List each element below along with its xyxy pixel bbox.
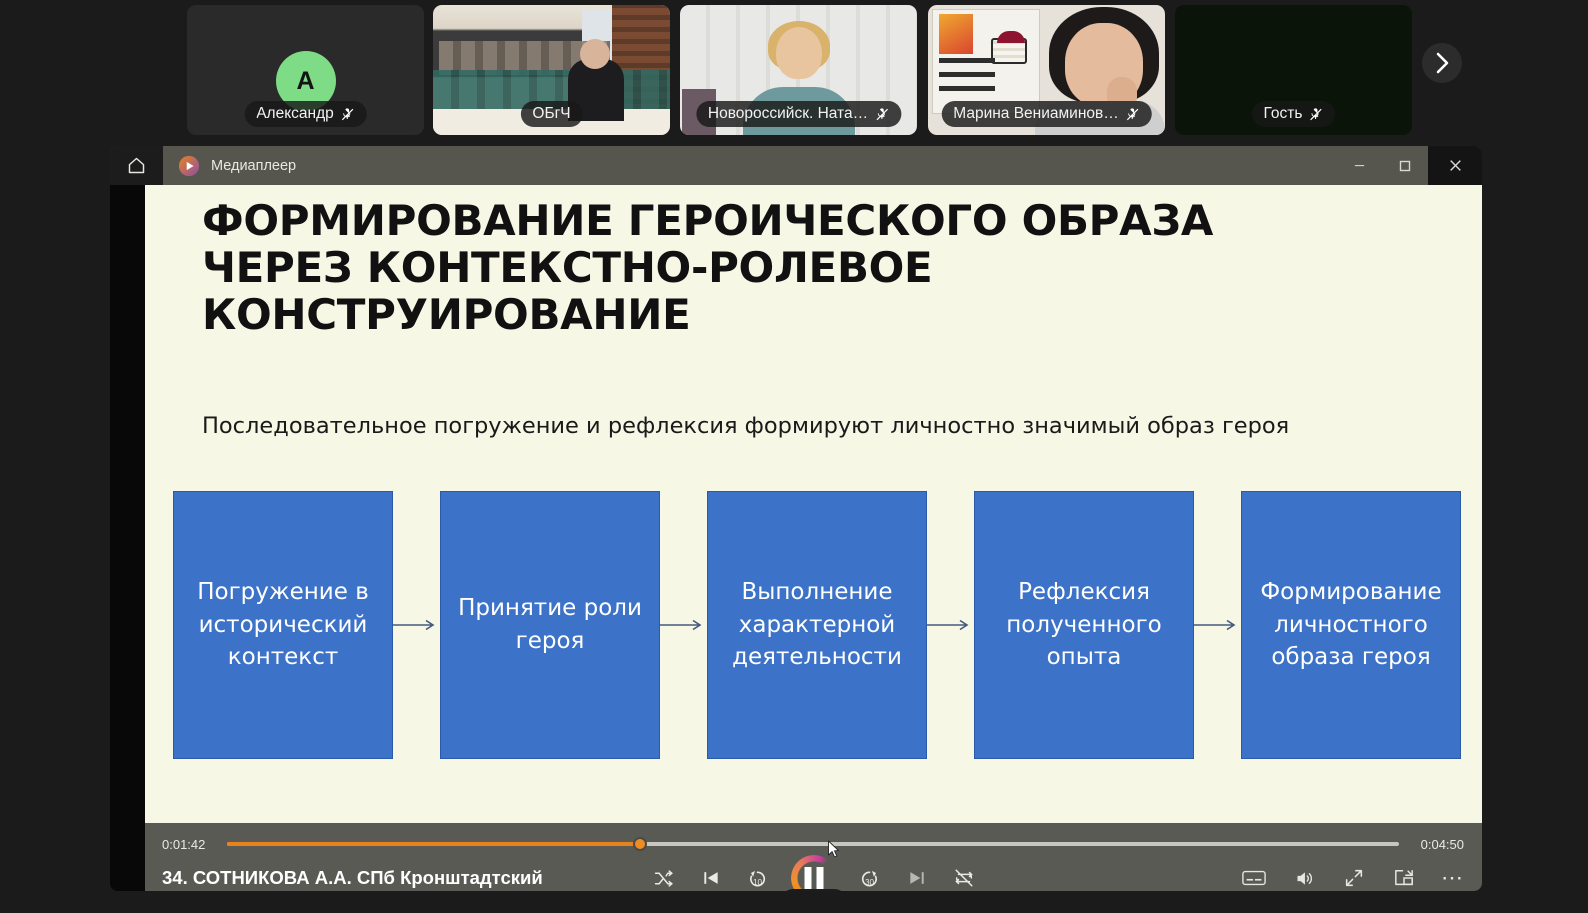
more-options-button[interactable]: ⋯ <box>1441 873 1464 883</box>
rewind-10-button[interactable]: 10 <box>744 864 772 891</box>
track-title: 34. СОТНИКОВА А.А. СПб Кронштадтский <box>162 867 543 889</box>
process-step: Принятие роли героя <box>440 491 660 759</box>
transport-controls: 10 ОБгЧ 30 <box>650 855 978 891</box>
participant-name-pill: Марина Вениаминов… <box>941 101 1152 127</box>
window-titlebar: Медиаплеер <box>110 146 1482 185</box>
pause-icon <box>804 867 823 889</box>
process-step: Погружение в исторический контекст <box>173 491 393 759</box>
seek-handle[interactable] <box>633 837 647 851</box>
shuffle-button[interactable] <box>650 864 678 891</box>
maximize-icon <box>1398 159 1412 173</box>
flow-arrow-icon <box>393 615 440 635</box>
participant-name: Гость <box>1264 105 1303 123</box>
minimize-button[interactable] <box>1336 146 1382 185</box>
repeat-off-button[interactable] <box>950 864 978 891</box>
participant-tile[interactable]: Марина Вениаминов… <box>928 5 1165 135</box>
forward-30-icon: 30 <box>858 867 881 890</box>
participant-tile[interactable]: Гость <box>1175 5 1412 135</box>
current-time: 0:01:42 <box>162 837 205 852</box>
next-track-button[interactable] <box>903 864 931 891</box>
shuffle-icon <box>653 868 674 889</box>
rewind-10-icon: 10 <box>746 867 769 890</box>
media-player-icon <box>178 155 200 177</box>
seek-bar[interactable] <box>227 842 1398 846</box>
process-flow-diagram: Погружение в исторический контекст Приня… <box>173 485 1473 765</box>
media-player-window: Медиаплеер ФОРМИРОВАНИЕ ГЕРОИЧЕСКОГО ОБР… <box>110 146 1482 891</box>
participant-name: Новороссийск. Ната… <box>708 105 868 123</box>
secondary-controls: ⋯ <box>1241 865 1464 891</box>
mic-off-icon <box>1125 106 1140 122</box>
process-step: Рефлексия полученного опыта <box>974 491 1194 759</box>
participant-tile[interactable]: Новороссийск. Ната… <box>680 5 917 135</box>
flow-arrow-icon <box>660 615 707 635</box>
play-pause-button[interactable]: ОБгЧ <box>791 855 837 891</box>
participant-tile[interactable]: ОБгЧ <box>433 5 670 135</box>
home-icon <box>126 155 147 176</box>
seek-progress <box>227 842 639 846</box>
participant-name-pill: ОБгЧ <box>520 101 582 127</box>
maximize-button[interactable] <box>1382 146 1428 185</box>
volume-icon <box>1293 868 1316 889</box>
previous-track-button[interactable] <box>697 864 725 891</box>
participant-filmstrip: A Александр ОБгЧ Новороссийск. Ната… <box>0 0 1588 140</box>
svg-text:10: 10 <box>753 878 763 887</box>
participant-name-pill: Александр <box>244 101 367 127</box>
total-time: 0:04:50 <box>1421 837 1464 852</box>
slide-subtitle: Последовательное погружение и рефлексия … <box>202 413 1422 439</box>
subtitles-icon <box>1242 869 1266 887</box>
home-button[interactable] <box>110 146 163 185</box>
close-icon <box>1448 158 1463 173</box>
window-title: Медиаплеер <box>211 158 296 174</box>
forward-30-button[interactable]: 30 <box>856 864 884 891</box>
player-controls: 0:01:42 0:04:50 34. СОТНИКОВА А.А. СПб К… <box>145 823 1482 891</box>
subtitles-button[interactable] <box>1241 865 1267 891</box>
mouse-cursor <box>827 840 840 858</box>
filmstrip-next-button[interactable] <box>1422 43 1462 83</box>
mic-off-icon <box>874 106 889 122</box>
close-button[interactable] <box>1428 146 1482 185</box>
slide-title: ФОРМИРОВАНИЕ ГЕРОИЧЕСКОГО ОБРАЗА ЧЕРЕЗ К… <box>202 197 1342 338</box>
player-tooltip: ОБгЧ <box>780 889 847 891</box>
flow-arrow-icon <box>1194 615 1241 635</box>
chevron-right-icon <box>1435 52 1450 74</box>
volume-button[interactable] <box>1291 865 1317 891</box>
transport-row: 34. СОТНИКОВА А.А. СПб Кронштадтский <box>145 865 1482 891</box>
mini-player-button[interactable] <box>1391 865 1417 891</box>
flow-arrow-icon <box>927 615 974 635</box>
fullscreen-icon <box>1343 867 1365 889</box>
process-step: Выполнение характерной деятельности <box>707 491 927 759</box>
repeat-off-icon <box>953 867 975 889</box>
next-track-icon <box>907 868 927 888</box>
mic-off-icon <box>340 106 355 122</box>
svg-text:30: 30 <box>865 878 875 887</box>
slide-content: ФОРМИРОВАНИЕ ГЕРОИЧЕСКОГО ОБРАЗА ЧЕРЕЗ К… <box>145 185 1482 823</box>
window-left-rail <box>110 185 145 891</box>
process-step: Формирование личностного образа героя <box>1241 491 1461 759</box>
participant-name-pill: Гость <box>1252 101 1336 127</box>
participant-tile[interactable]: A Александр <box>187 5 424 135</box>
participant-name: Марина Вениаминов… <box>953 105 1119 123</box>
participant-name: Александр <box>256 105 334 123</box>
fullscreen-button[interactable] <box>1341 865 1367 891</box>
participant-name-pill: Новороссийск. Ната… <box>696 101 901 127</box>
mini-player-icon <box>1393 868 1415 888</box>
mic-off-icon <box>1308 106 1323 122</box>
minimize-icon <box>1353 159 1366 172</box>
participant-name: ОБгЧ <box>532 105 570 123</box>
previous-track-icon <box>701 868 721 888</box>
